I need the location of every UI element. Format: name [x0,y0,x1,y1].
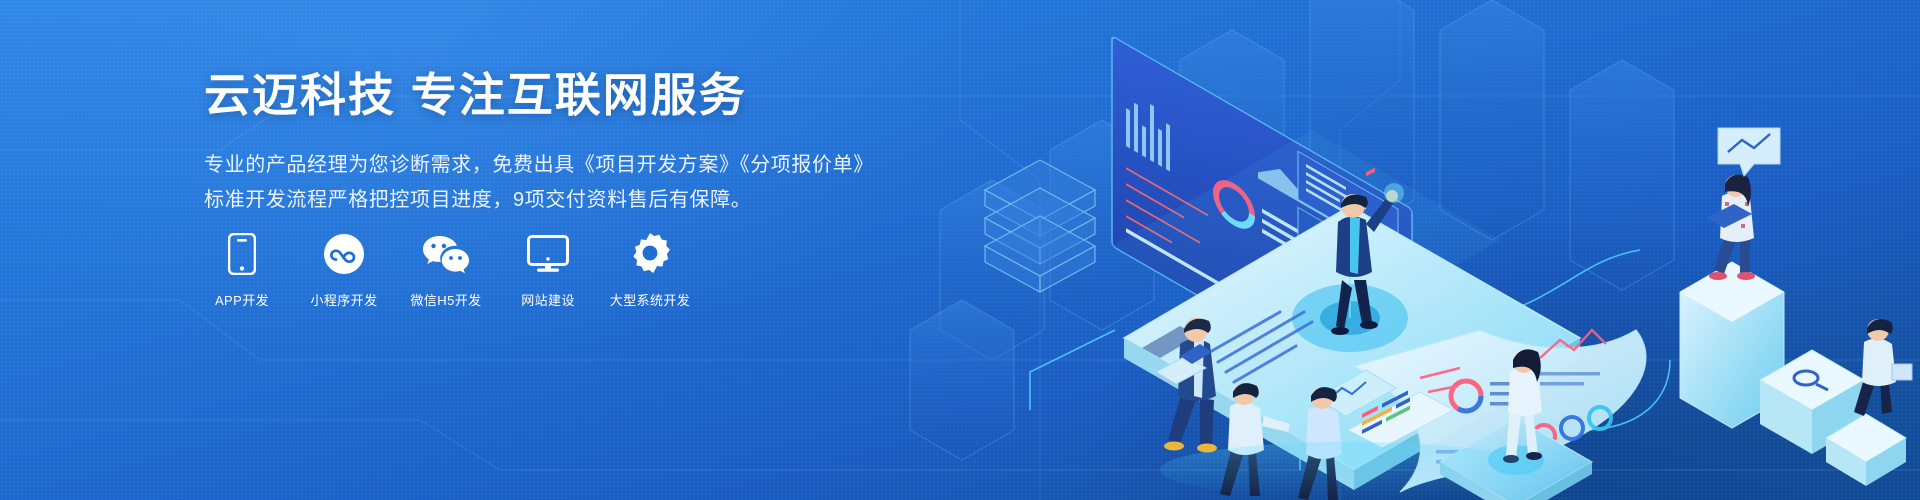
woman-on-pedestal-laptop [1680,128,1784,428]
banner-subtitle: 专业的产品经理为您诊断需求，免费出具《项目开发方案》《分项报价单》 标准开发流程… [204,148,904,217]
circuit-lines [1030,250,1670,470]
glow-accents [1160,442,1540,498]
service-label: 微信H5开发 [410,290,481,309]
subtitle-line-1: 专业的产品经理为您诊断需求，免费出具《项目开发方案》《分项报价单》 [204,148,904,182]
gear-icon [629,232,671,276]
search-cube [1760,350,1864,454]
service-label: 小程序开发 [310,290,377,309]
giant-smartphone-platform [1124,206,1580,490]
standing-person-pointing [1331,183,1404,335]
background-city-blocks [910,0,1674,460]
banner-copy: 云迈科技 专注互联网服务 专业的产品经理为您诊断需求，免费出具《项目开发方案》《… [204,68,904,217]
service-label: APP开发 [215,290,269,309]
page-title: 云迈科技 专注互联网服务 [204,68,904,122]
server-stack [985,160,1095,292]
isometric-tech-illustration [880,0,1920,500]
floating-chart-card [1316,370,1396,416]
service-item-app[interactable]: APP开发 [204,232,280,309]
service-item-large-system[interactable]: 大型系统开发 [612,232,688,309]
wechat-icon [422,232,470,276]
service-item-wechat-h5[interactable]: 微信H5开发 [408,232,484,309]
code-panel [1348,168,1454,448]
mini-program-icon [323,232,365,276]
service-item-website[interactable]: 网站建设 [510,232,586,309]
service-list: APP开发 小程序开发 微信 [204,232,688,309]
flowing-data-ribbon [1354,330,1646,492]
service-label: 网站建设 [521,290,575,309]
two-people-talking [1220,383,1342,500]
monitor-icon [527,232,569,276]
subtitle-line-2: 标准开发流程严格把控项目进度，9项交付资料售后有保障。 [204,183,904,217]
seated-person-laptop [1156,318,1217,453]
service-label: 大型系统开发 [610,290,690,309]
walking-person-briefcase [1826,319,1912,486]
service-item-mini-program[interactable]: 小程序开发 [306,232,382,309]
smartphone-icon [228,232,256,276]
promo-banner: 云迈科技 专注互联网服务 专业的产品经理为您诊断需求，免费出具《项目开发方案》《… [0,0,1920,500]
dashboard-screen [1112,36,1500,419]
woman-on-tablet-platform [1440,349,1592,500]
